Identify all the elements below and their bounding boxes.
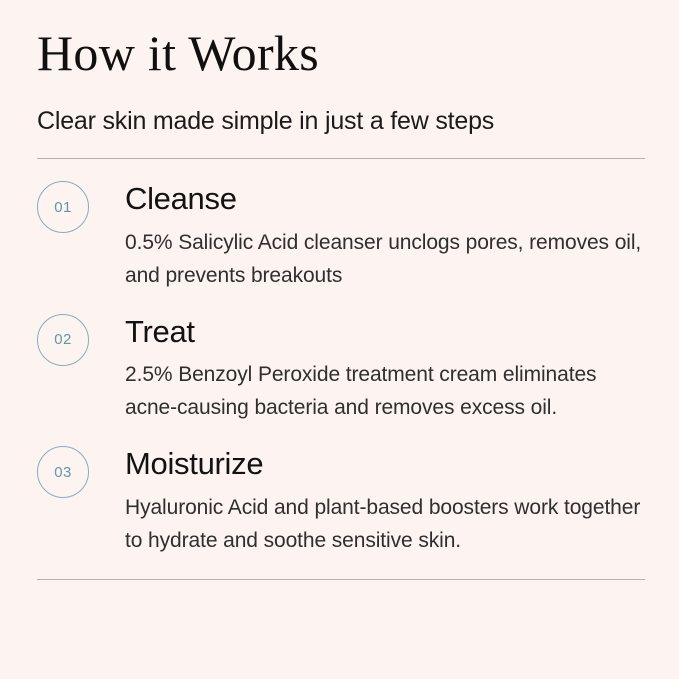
- step-item-moisturize: 03 Moisturize Hyaluronic Acid and plant-…: [37, 424, 645, 557]
- step-number-label: 01: [54, 200, 72, 215]
- step-heading: Treat: [125, 315, 645, 350]
- step-number-badge: 02: [37, 314, 89, 366]
- step-number-label: 03: [54, 465, 72, 480]
- step-description: 0.5% Salicylic Acid cleanser unclogs por…: [125, 217, 645, 292]
- step-item-treat: 02 Treat 2.5% Benzoyl Peroxide treatment…: [37, 292, 645, 425]
- step-number-badge: 03: [37, 446, 89, 498]
- page-subtitle: Clear skin made simple in just a few ste…: [37, 80, 645, 136]
- divider-bottom: [37, 579, 645, 580]
- how-it-works-panel: How it Works Clear skin made simple in j…: [0, 0, 679, 679]
- step-heading: Cleanse: [125, 182, 645, 217]
- step-heading: Moisturize: [125, 447, 645, 482]
- step-number-badge: 01: [37, 181, 89, 233]
- steps-list: 01 Cleanse 0.5% Salicylic Acid cleanser …: [37, 159, 645, 557]
- page-title: How it Works: [37, 26, 645, 80]
- step-item-cleanse: 01 Cleanse 0.5% Salicylic Acid cleanser …: [37, 175, 645, 292]
- step-description: 2.5% Benzoyl Peroxide treatment cream el…: [125, 349, 645, 424]
- step-description: Hyaluronic Acid and plant-based boosters…: [125, 482, 645, 557]
- header: How it Works Clear skin made simple in j…: [37, 0, 645, 136]
- step-number-label: 02: [54, 332, 72, 347]
